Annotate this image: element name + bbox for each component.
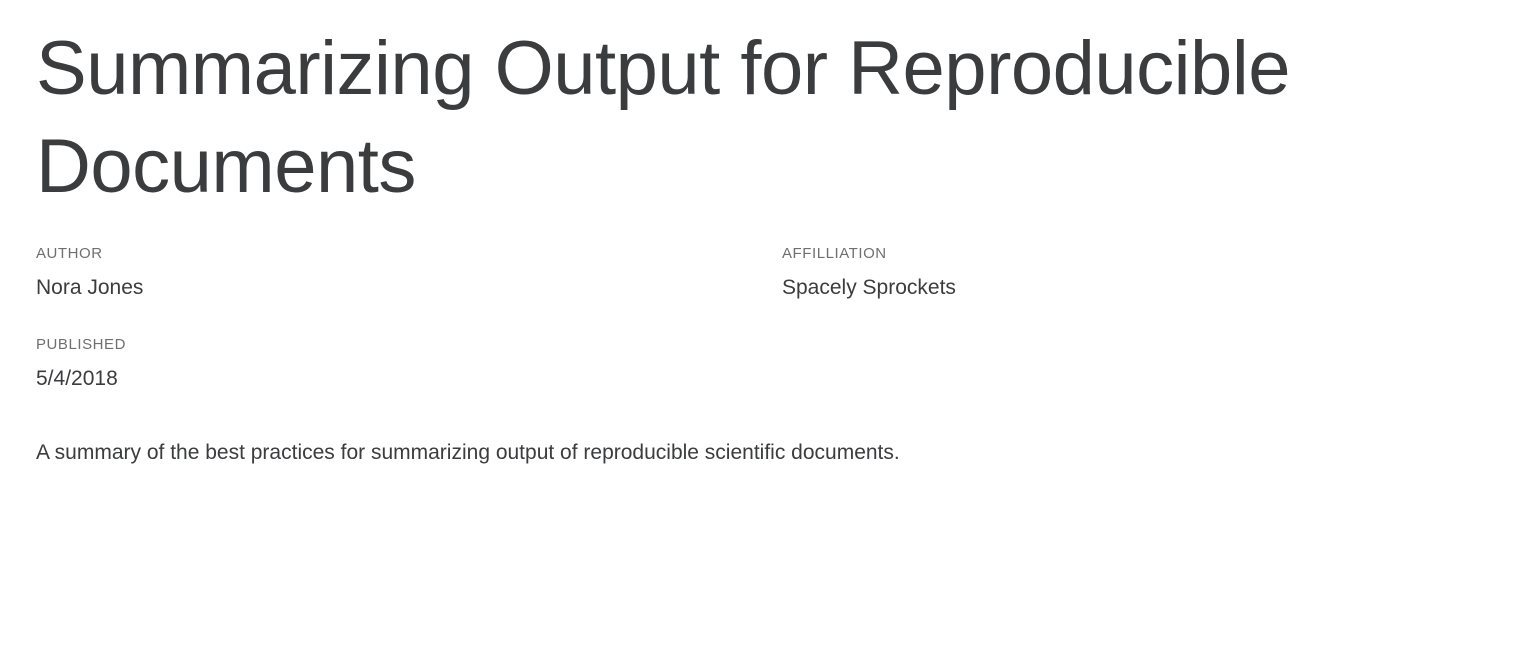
metadata-value-published: 5/4/2018	[36, 366, 782, 392]
article-metadata-grid: AUTHOR Nora Jones AFFILLIATION Spacely S…	[36, 244, 1492, 426]
metadata-field-published: PUBLISHED 5/4/2018	[36, 335, 782, 426]
metadata-field-affiliation: AFFILLIATION Spacely Sprockets	[782, 244, 1492, 335]
page-title: Summarizing Output for Reproducible Docu…	[36, 0, 1356, 216]
metadata-label-affiliation: AFFILLIATION	[782, 244, 1492, 264]
metadata-label-author: AUTHOR	[36, 244, 782, 264]
metadata-value-author: Nora Jones	[36, 275, 782, 301]
article-title-block: Summarizing Output for Reproducible Docu…	[0, 0, 1528, 656]
metadata-label-published: PUBLISHED	[36, 335, 782, 355]
metadata-value-affiliation: Spacely Sprockets	[782, 275, 1492, 301]
article-abstract: A summary of the best practices for summ…	[36, 426, 1356, 468]
metadata-field-author: AUTHOR Nora Jones	[36, 244, 782, 335]
